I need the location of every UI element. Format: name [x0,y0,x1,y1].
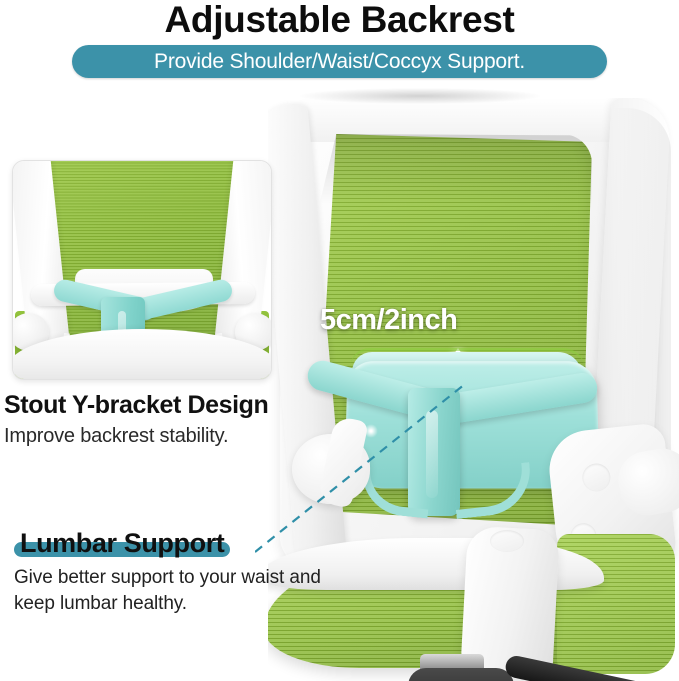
callout-lumbar-support: Lumbar Support Give better support to yo… [14,527,324,617]
chair-photo: 5cm/2inch [268,98,679,681]
callout-y-bracket-body: Improve backrest stability. [4,423,304,450]
measurement-label: 5cm/2inch [320,303,620,337]
callout-y-bracket-heading: Stout Y-bracket Design [4,390,304,420]
callout-lumbar-heading-wrap: Lumbar Support [14,527,230,559]
callout-y-bracket: Stout Y-bracket Design Improve backrest … [4,390,304,450]
callout-lumbar-body: Give better support to your waist and ke… [14,565,324,617]
cylinder-collar [408,668,514,681]
backrest-mesh-shading [314,134,592,204]
page-title: Adjustable Backrest [0,0,679,42]
post-dimple [490,530,524,552]
y-bracket-inset-panel [12,160,272,380]
subtitle-banner: Provide Shoulder/Waist/Coccyx Support. [72,45,607,78]
infographic-canvas: Adjustable Backrest Provide Shoulder/Wai… [0,0,679,681]
header-drop-shadow [300,88,540,104]
subtitle-text: Provide Shoulder/Waist/Coccyx Support. [154,51,525,73]
callout-lumbar-heading: Lumbar Support [20,528,224,558]
joint-dimple-upper [581,462,612,493]
